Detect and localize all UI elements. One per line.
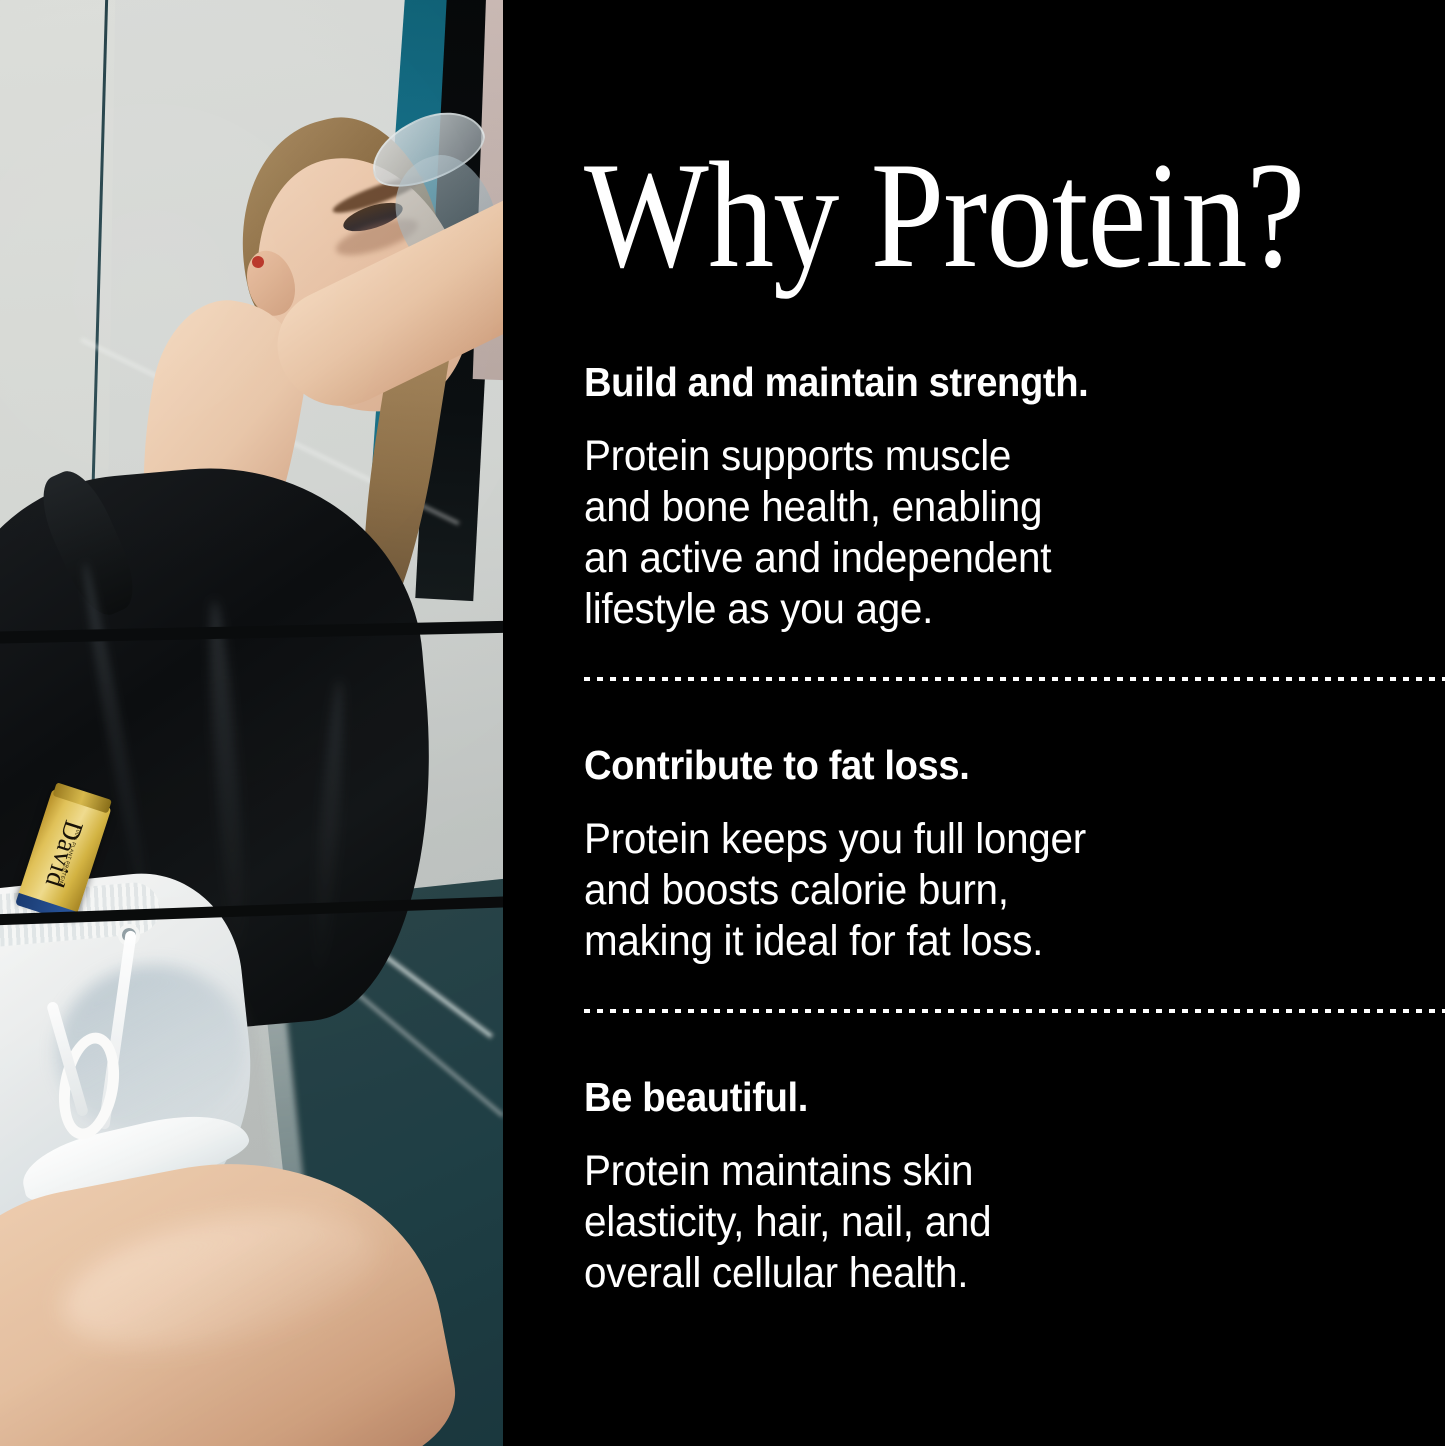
page-title: Why Protein? — [584, 138, 1304, 293]
model-earring — [252, 256, 264, 268]
benefit-title: Contribute to fat loss. — [584, 743, 1385, 788]
content-panel: Why Protein? Build and maintain strength… — [503, 0, 1445, 1446]
why-protein-marketing-card: David 100% PLANT PROTEIN Why Protein? Bu… — [0, 0, 1445, 1446]
benefit-title: Be beautiful. — [584, 1075, 1385, 1120]
benefit-section-fat-loss: Contribute to fat loss. Protein keeps yo… — [503, 681, 1445, 967]
lifestyle-photo: David 100% PLANT PROTEIN — [0, 0, 503, 1446]
benefit-title: Build and maintain strength. — [584, 360, 1385, 405]
benefit-section-strength: Build and maintain strength. Protein sup… — [503, 360, 1445, 635]
benefit-section-beauty: Be beautiful. Protein maintains skin ela… — [503, 1013, 1445, 1299]
benefits-list: Build and maintain strength. Protein sup… — [503, 360, 1445, 1299]
benefit-body: Protein keeps you full longer and boosts… — [584, 814, 1393, 967]
benefit-body: Protein supports muscle and bone health,… — [584, 431, 1393, 635]
benefit-body: Protein maintains skin elasticity, hair,… — [584, 1146, 1393, 1299]
